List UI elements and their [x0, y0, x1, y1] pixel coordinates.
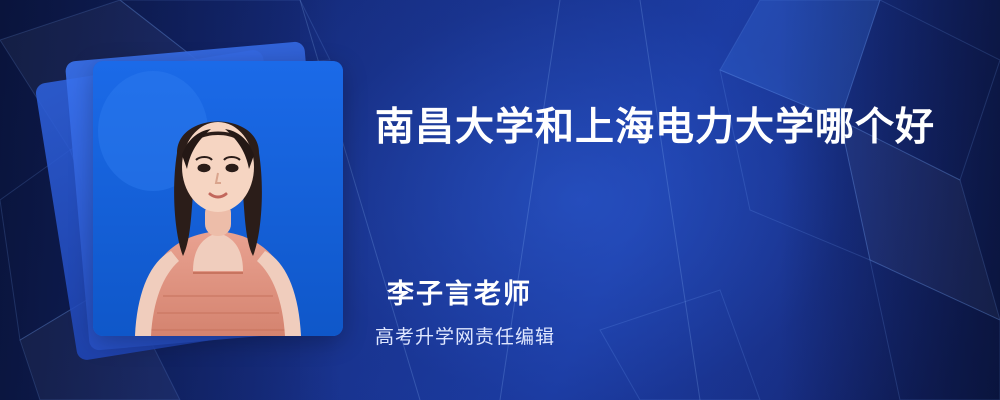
page-title: 南昌大学和上海电力大学哪个好 [375, 96, 935, 152]
photo-stack [55, 35, 355, 365]
text-block: 南昌大学和上海电力大学哪个好 李子言老师 高考升学网责任编辑 [375, 0, 975, 400]
author-name: 李子言老师 [387, 272, 532, 311]
author-role: 高考升学网责任编辑 [375, 322, 555, 349]
author-photo [93, 61, 343, 336]
banner: 南昌大学和上海电力大学哪个好 李子言老师 高考升学网责任编辑 [0, 0, 1000, 400]
